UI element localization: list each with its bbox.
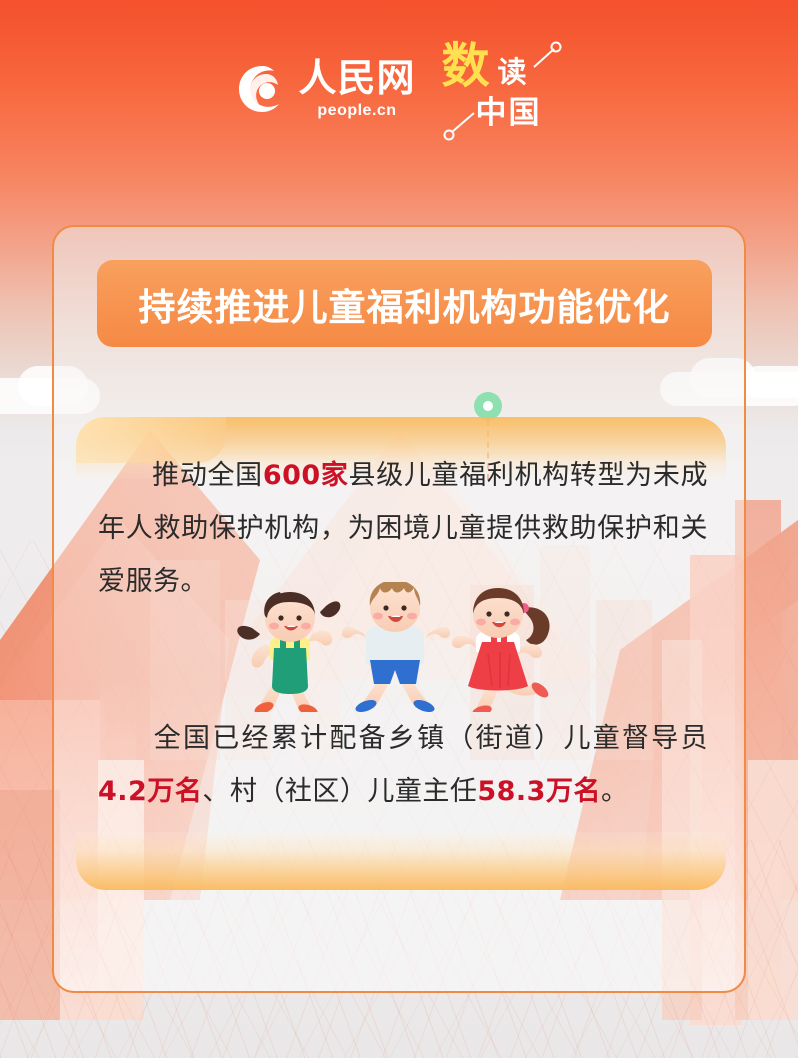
child-girl-red-dress [452,588,551,712]
child-girl-green-overalls [237,592,340,712]
cloud-icon [742,366,798,398]
emblem-char-shu: 数 [442,43,490,91]
p2-segment-3: 。 [601,776,629,807]
emblem-char-du: 读 [498,59,527,88]
green-ring-marker-icon [474,392,502,420]
p1-highlight-600: 600家 [263,460,349,491]
emblem-char-zhongguo: 中国 [476,97,542,128]
logo-domain: people.cn [317,103,396,119]
amber-band-bottom [76,832,726,890]
section-title-text: 持续推进儿童福利机构功能优化 [139,277,671,331]
child-boy-blue-shorts [342,582,450,712]
p2-highlight-42wan: 4.2万名 [98,776,202,807]
p1-segment-1: 推动全国 [152,460,263,491]
people-cn-logo[interactable]: 人民网 people.cn [236,60,415,119]
p2-segment-2: 、村（社区）儿童主任 [202,776,477,807]
three-happy-children-illustration [234,582,574,712]
paragraph-two: 全国已经累计配备乡镇（街道）儿童督导员4.2万名、村（社区）儿童主任58.3万名… [98,712,708,818]
shudu-zhongguo-emblem: 数 读 中国 [442,37,562,142]
header-brand: 人民网 people.cn 数 读 中国 [0,34,798,144]
content-card: 持续推进儿童福利机构功能优化 推动全国600家县级儿童福利机构转型为未成年人救助… [52,225,746,993]
p2-highlight-583wan: 58.3万名 [477,776,601,807]
people-globe-logo-icon [236,63,288,115]
infographic-poster: 人民网 people.cn 数 读 中国 持续推进儿童福利机构功能优化 推动全国… [0,0,798,1058]
section-title-banner: 持续推进儿童福利机构功能优化 [97,260,712,347]
logo-chinese-name: 人民网 [298,60,415,98]
p2-segment-1: 全国已经累计配备乡镇（街道）儿童督导员 [152,723,708,754]
